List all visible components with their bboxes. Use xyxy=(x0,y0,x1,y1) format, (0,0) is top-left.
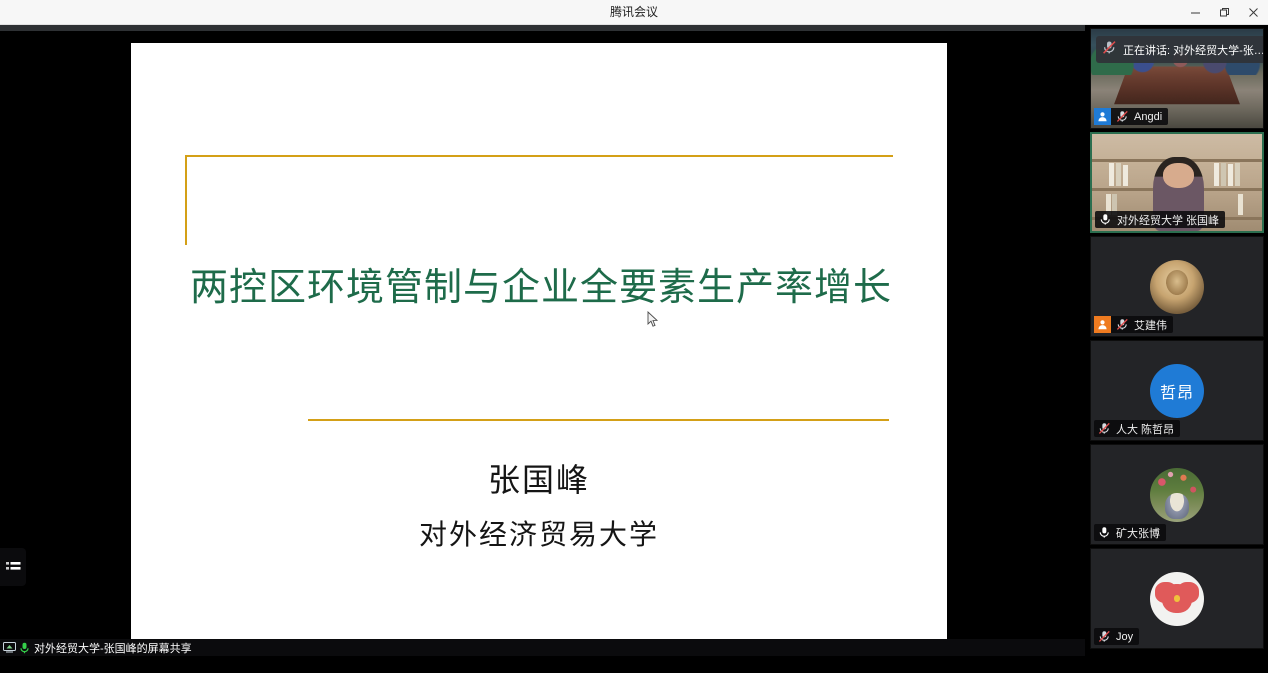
participant-name: Joy xyxy=(1112,631,1133,643)
participant-avatar xyxy=(1150,468,1204,522)
mic-muted-icon xyxy=(1114,108,1130,125)
list-menu-icon xyxy=(6,561,21,574)
minimize-icon xyxy=(1190,7,1201,18)
screen-share-icon xyxy=(3,642,16,653)
mic-muted-icon xyxy=(1096,420,1112,437)
participant-tile[interactable]: 矿大张博 xyxy=(1090,444,1264,545)
participant-name: Angdi xyxy=(1130,111,1162,123)
presentation-slide[interactable]: 两控区环境管制与企业全要素生产率增长 张国峰 对外经济贸易大学 1/30 xyxy=(131,43,947,656)
mic-green-icon xyxy=(19,642,30,654)
close-button[interactable] xyxy=(1239,0,1268,25)
screen-share-taskbar: 对外经贸大学-张国峰的屏幕共享 xyxy=(0,639,1085,656)
slide-author: 张国峰 xyxy=(131,455,947,501)
window-title: 腾讯会议 xyxy=(0,0,1268,25)
participant-tile[interactable]: Joy xyxy=(1090,548,1264,649)
screen-share-label: 对外经贸大学-张国峰的屏幕共享 xyxy=(34,640,192,656)
person-badge-icon xyxy=(1094,108,1111,125)
participant-name-chip: 对外经贸大学 张国峰 xyxy=(1095,211,1225,228)
slide-affiliation: 对外经济贸易大学 xyxy=(131,513,947,553)
participant-name: 矿大张博 xyxy=(1112,525,1160,541)
window-controls xyxy=(1181,0,1268,25)
mic-muted-icon xyxy=(1114,316,1130,333)
participant-name-chip: 人大 陈哲昂 xyxy=(1094,420,1180,437)
participant-avatar: 哲昂 xyxy=(1150,364,1204,418)
participant-name-chip: Angdi xyxy=(1094,108,1168,125)
participant-name-chip: 矿大张博 xyxy=(1094,524,1166,541)
participant-avatar xyxy=(1150,260,1204,314)
participant-name: 人大 陈哲昂 xyxy=(1112,421,1174,437)
participant-tile[interactable]: 艾建伟 xyxy=(1090,236,1264,337)
mic-muted-icon xyxy=(1096,628,1112,645)
slide-divider-rule xyxy=(308,419,889,421)
active-speaker-text: 正在讲话: 对外经贸大学-张国... xyxy=(1123,42,1264,58)
mic-muted-icon xyxy=(1102,40,1117,60)
slide-decor-bracket xyxy=(185,155,893,245)
participant-rail[interactable]: 正在讲话: 对外经贸大学-张国... Angdi xyxy=(1085,25,1268,673)
participant-tile[interactable]: 对外经贸大学 张国峰 xyxy=(1090,132,1264,233)
person-badge-icon xyxy=(1094,316,1111,333)
restore-window-icon xyxy=(1219,7,1230,18)
meeting-side-menu-button[interactable] xyxy=(0,548,26,586)
participant-name: 对外经贸大学 张国峰 xyxy=(1113,212,1219,228)
participant-name-chip: 艾建伟 xyxy=(1094,316,1173,333)
maximize-button[interactable] xyxy=(1210,0,1239,25)
shared-screen-stage[interactable]: 两控区环境管制与企业全要素生产率增长 张国峰 对外经济贸易大学 1/30 xyxy=(0,25,1085,656)
participant-name: 艾建伟 xyxy=(1130,317,1167,333)
mic-active-icon xyxy=(1096,524,1112,541)
participant-name-chip: Joy xyxy=(1094,628,1139,645)
participant-tile[interactable]: 正在讲话: 对外经贸大学-张国... Angdi xyxy=(1090,28,1264,129)
window-titlebar: 腾讯会议 xyxy=(0,0,1268,25)
close-icon xyxy=(1248,7,1259,18)
active-speaker-banner: 正在讲话: 对外经贸大学-张国... xyxy=(1096,36,1264,63)
participant-tile[interactable]: 哲昂 人大 陈哲昂 xyxy=(1090,340,1264,441)
minimize-button[interactable] xyxy=(1181,0,1210,25)
participant-avatar xyxy=(1150,572,1204,626)
stage-top-strip xyxy=(0,25,1085,31)
mic-active-icon xyxy=(1097,211,1113,228)
slide-title: 两控区环境管制与企业全要素生产率增长 xyxy=(171,256,911,311)
